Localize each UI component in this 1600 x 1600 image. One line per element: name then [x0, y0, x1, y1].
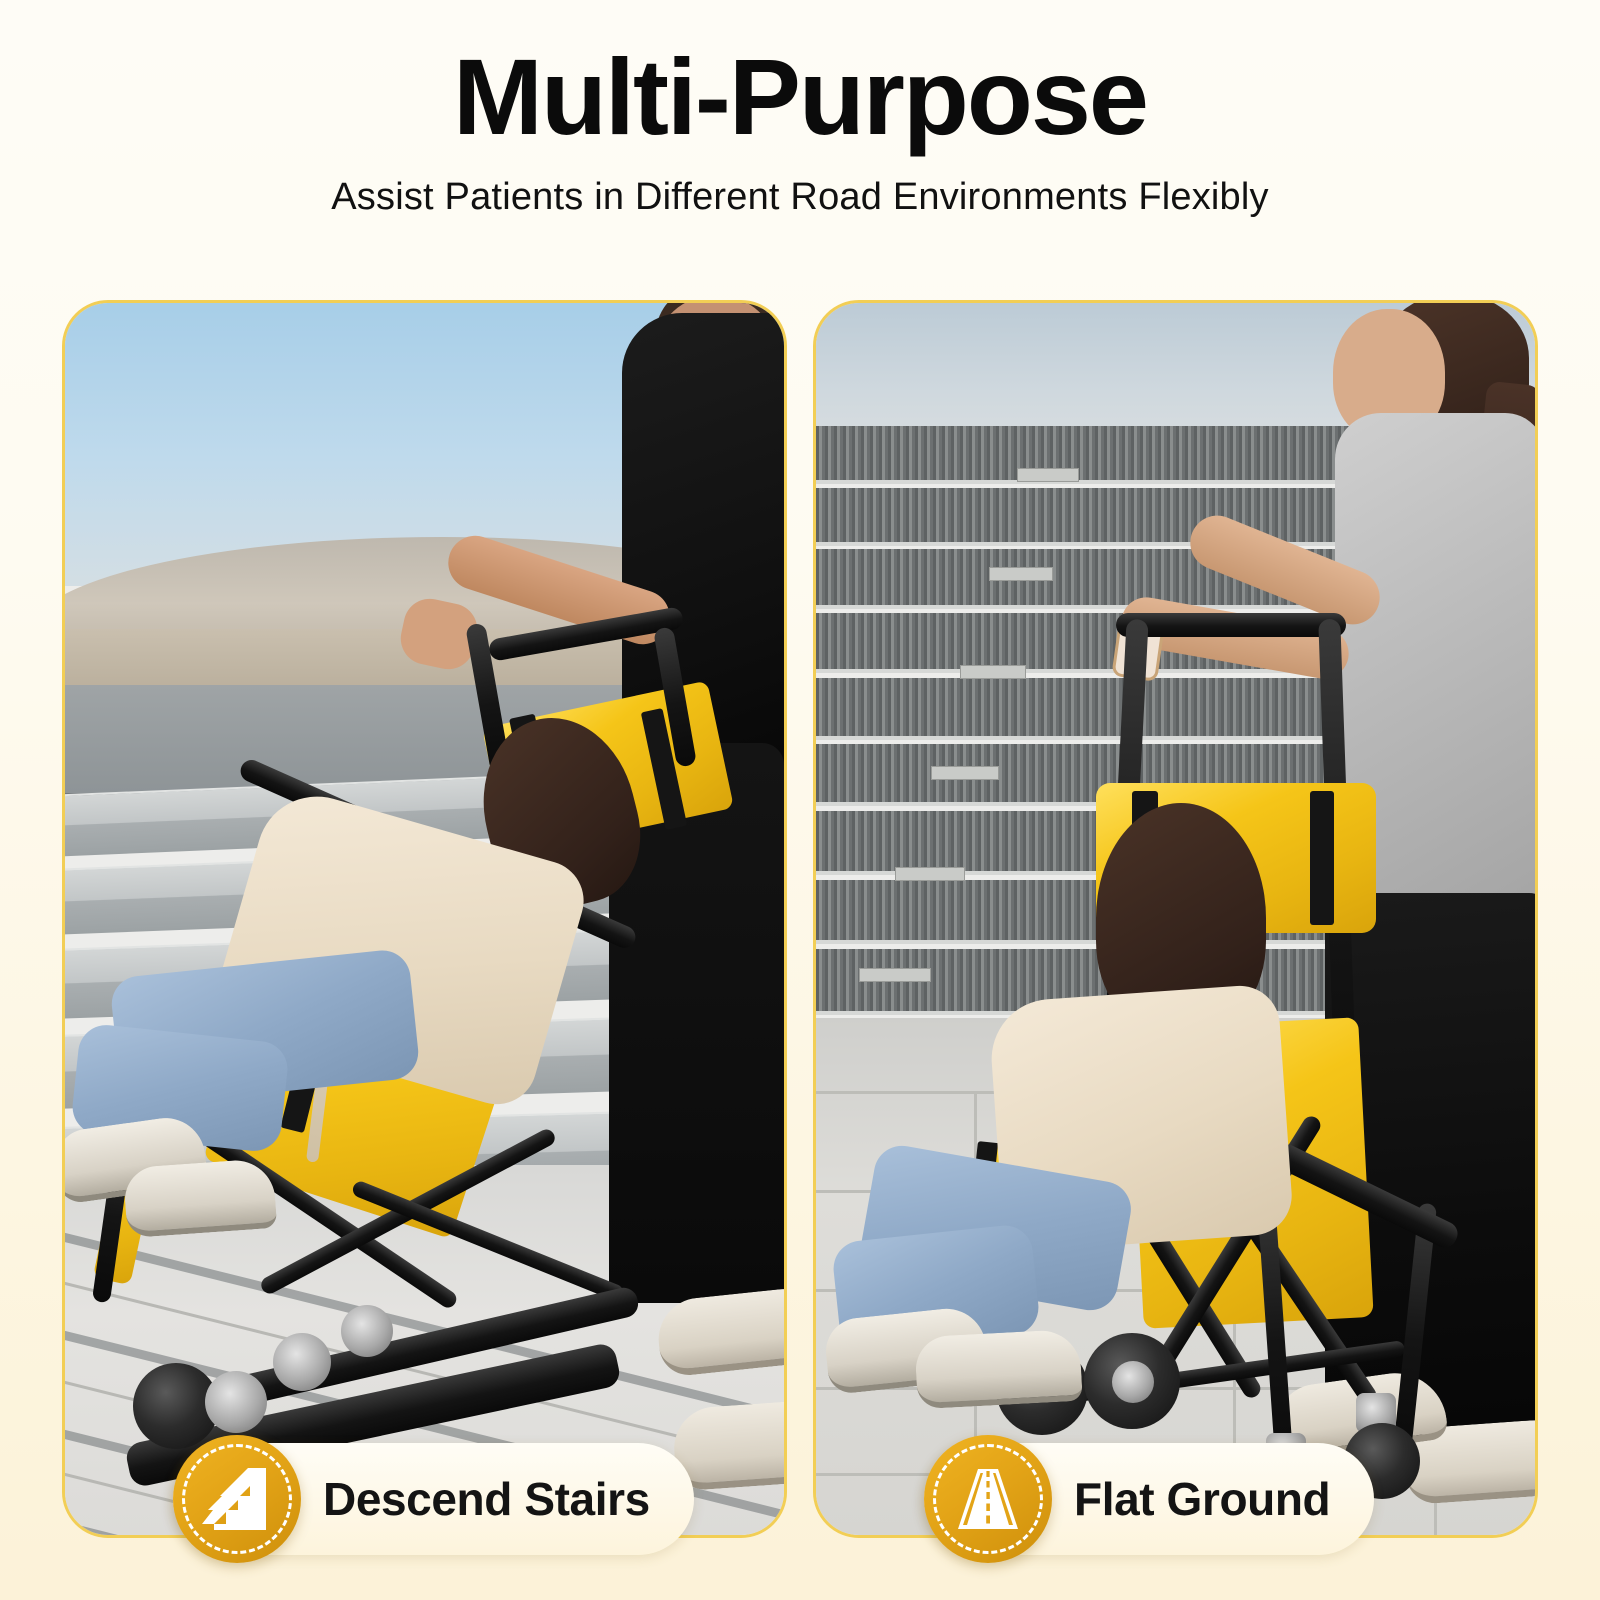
road-icon [924, 1435, 1052, 1563]
panel-row: Descend Stairs [62, 300, 1538, 1540]
badge-dashed-ring [933, 1444, 1043, 1554]
patient-shoe [123, 1158, 278, 1238]
panel-photo-stairs [65, 303, 784, 1535]
stairs-icon [173, 1435, 301, 1563]
chair-push-handle [1116, 613, 1346, 637]
badge-flat-ground[interactable]: Flat Ground [924, 1443, 1374, 1555]
patient-reclined [85, 733, 705, 1353]
patient-shoe [914, 1329, 1083, 1410]
badge-label: Descend Stairs [323, 1472, 650, 1526]
header: Multi-Purpose Assist Patients in Differe… [0, 0, 1600, 219]
badge-label: Flat Ground [1074, 1472, 1330, 1526]
step-marker-plate [1017, 468, 1079, 482]
panel-photo-flat-ground [816, 303, 1535, 1535]
panel-flat-ground[interactable]: Flat Ground [813, 300, 1538, 1538]
page-title: Multi-Purpose [0, 40, 1600, 154]
chair-wheel-hub [205, 1371, 267, 1433]
badge-dashed-ring [182, 1444, 292, 1554]
patient-seated [876, 863, 1396, 1423]
page-subtitle: Assist Patients in Different Road Enviro… [0, 176, 1600, 219]
panel-descend-stairs[interactable]: Descend Stairs [62, 300, 787, 1538]
badge-descend-stairs[interactable]: Descend Stairs [173, 1443, 694, 1555]
